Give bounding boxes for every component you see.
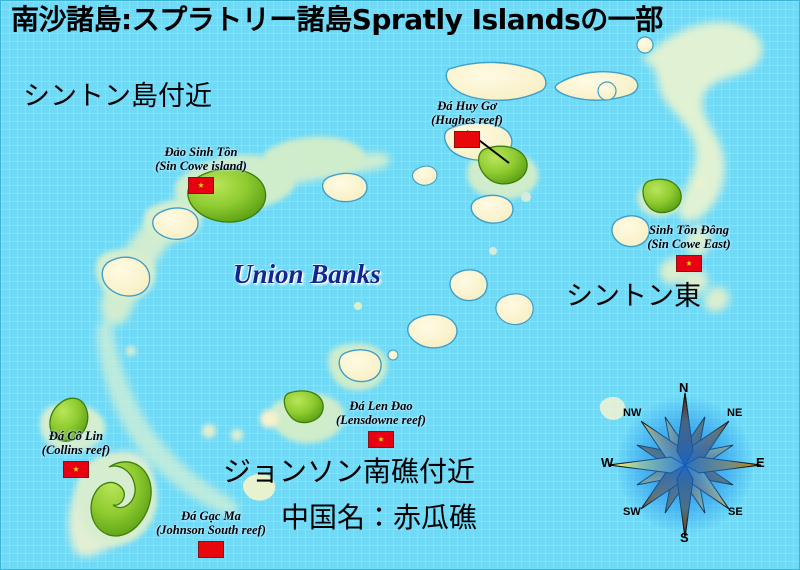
feature-label-sin-cowe-east: Sinh Tồn Đông (Sin Cowe East) [609, 223, 769, 275]
compass-label-w: W [601, 456, 613, 469]
feature-name-vi: Đá Cô Lin [1, 429, 151, 443]
compass-rose: N NE E SE S SW W NW [595, 379, 775, 549]
flag-vietnam-icon [63, 461, 89, 478]
region-label-union-banks: Union Banks [233, 259, 381, 290]
feature-label-hughes-reef: Đá Huy Gơ (Hughes reef) [387, 99, 547, 151]
flag-vietnam-icon [188, 177, 214, 194]
compass-label-se: SE [728, 507, 743, 518]
feature-name-en: (Sin Cowe East) [609, 237, 769, 251]
area-label-sinton-vicinity: シントン島付近 [23, 83, 212, 111]
flag-china-icon [198, 541, 224, 558]
flag-vietnam-icon [368, 431, 394, 448]
feature-name-en: (Johnson South reef) [126, 523, 296, 537]
map-title: 南沙諸島:スプラトリー諸島Spratly Islandsの一部 [11, 5, 663, 34]
feature-name-en: (Sin Cowe island) [111, 159, 291, 173]
compass-label-ne: NE [727, 408, 742, 419]
area-label-johnson-south-vicinity: ジョンソン南礁付近 [223, 457, 475, 486]
feature-name-vi: Đá Huy Gơ [387, 99, 547, 113]
compass-label-sw: SW [623, 507, 641, 518]
feature-name-en: (Lensdowne reef) [301, 413, 461, 427]
feature-label-lensdowne-reef: Đá Len Đao (Lensdowne reef) [301, 399, 461, 451]
flag-china-icon [454, 131, 480, 148]
feature-label-collins-reef: Đá Cô Lin (Collins reef) [1, 429, 151, 481]
feature-label-sin-cowe-island: Đảo Sinh Tồn (Sin Cowe island) [111, 145, 291, 197]
compass-label-e: E [756, 456, 765, 469]
map-canvas: 南沙諸島:スプラトリー諸島Spratly Islandsの一部 シントン島付近 … [0, 0, 800, 570]
feature-name-vi: Sinh Tồn Đông [609, 223, 769, 237]
feature-name-vi: Đá Gạc Ma [126, 509, 296, 523]
feature-name-vi: Đá Len Đao [301, 399, 461, 413]
area-label-sinton-east: シントン東 [566, 283, 701, 311]
compass-label-nw: NW [623, 408, 641, 419]
feature-name-en: (Collins reef) [1, 443, 151, 457]
flag-vietnam-icon [676, 255, 702, 272]
area-label-chinese-name: 中国名：赤瓜礁 [281, 503, 477, 532]
feature-name-vi: Đảo Sinh Tồn [111, 145, 291, 159]
feature-label-johnson-south-reef: Đá Gạc Ma (Johnson South reef) [126, 509, 296, 561]
compass-label-s: S [680, 531, 689, 544]
compass-label-n: N [679, 381, 688, 394]
feature-name-en: (Hughes reef) [387, 113, 547, 127]
